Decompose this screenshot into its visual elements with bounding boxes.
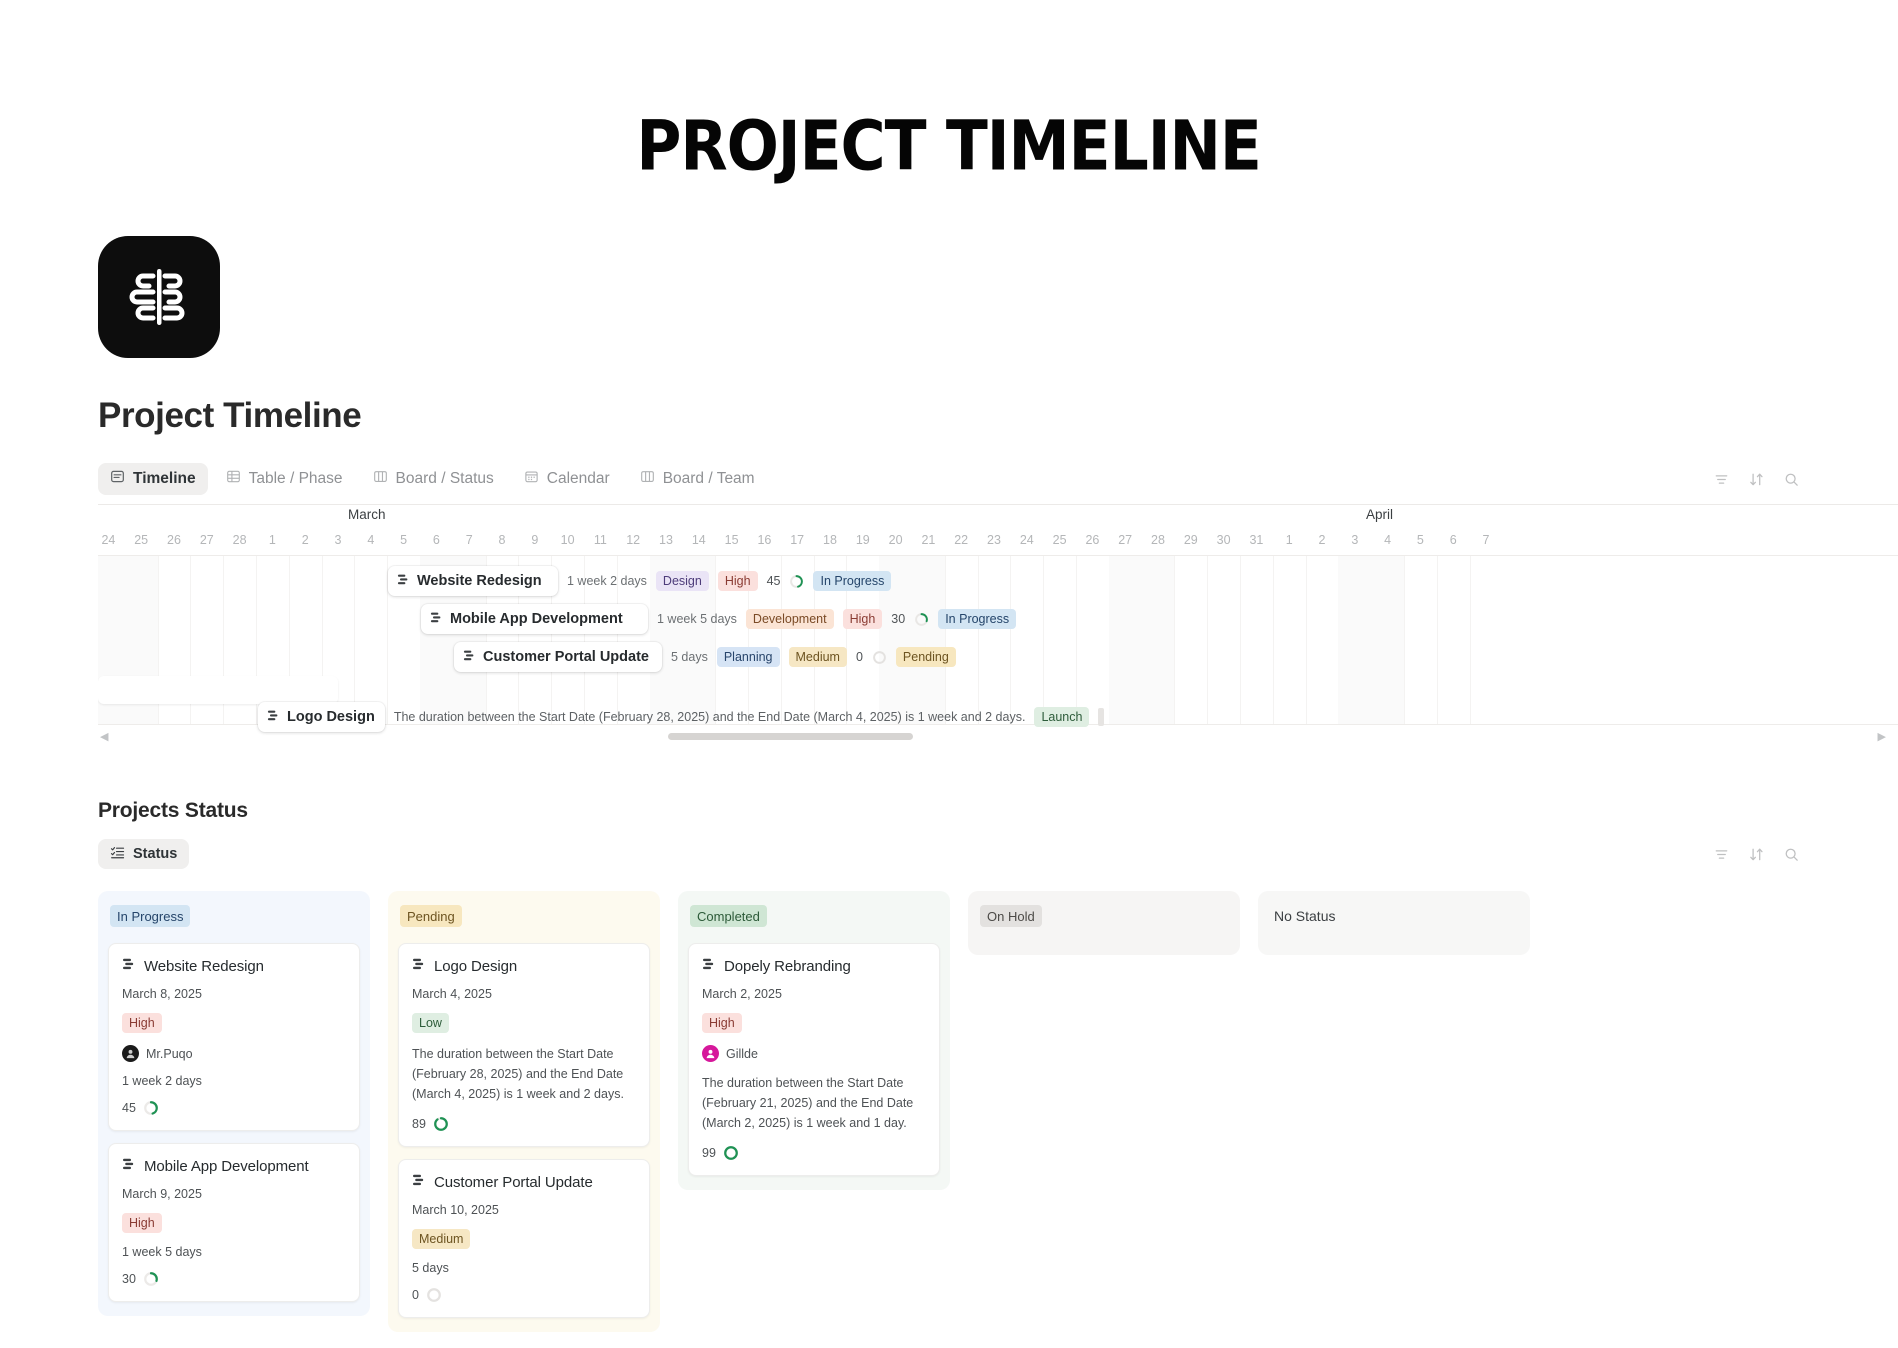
- projects-status-section: Projects Status Status: [98, 799, 1898, 1332]
- card-duration: 5 days: [412, 1261, 636, 1275]
- timeline-day-label: 28: [223, 533, 256, 547]
- column-status-label: No Status: [1270, 908, 1335, 924]
- scroll-left-icon[interactable]: ◀: [100, 730, 108, 743]
- timeline-day-label: 21: [912, 533, 945, 547]
- card-date: March 10, 2025: [412, 1203, 636, 1217]
- status-tab-row: Status: [98, 839, 1800, 869]
- status-tab-label: Status: [133, 846, 177, 862]
- timeline-day-label: 26: [1076, 533, 1109, 547]
- timeline-column-divider: [1240, 556, 1241, 724]
- timeline-horizontal-scrollbar[interactable]: ◀ ▶: [98, 725, 1898, 747]
- timeline-bar-description: The duration between the Start Date (Feb…: [394, 710, 1026, 724]
- tab-status[interactable]: Status: [98, 839, 189, 869]
- board-card[interactable]: Dopely Rebranding March 2, 2025 High Gil…: [688, 943, 940, 1176]
- phase-chip: Launch: [1034, 707, 1089, 727]
- assignee-name: Gillde: [726, 1047, 758, 1061]
- priority-chip: High: [122, 1013, 162, 1033]
- card-priority-row: Low: [412, 1013, 636, 1033]
- timeline-view: MarchApril 24252627281234567891011121314…: [98, 504, 1898, 747]
- project-timeline-logo-icon: [98, 236, 220, 358]
- timeline-empty-row: [98, 676, 338, 704]
- timeline-day-label: 13: [650, 533, 683, 547]
- progress-value: 89: [412, 1117, 426, 1131]
- card-description: The duration between the Start Date (Feb…: [412, 1045, 636, 1104]
- progress-ring-icon: [143, 1100, 159, 1116]
- timeline-column-divider: [1470, 556, 1471, 724]
- timeline-column-divider: [1207, 556, 1208, 724]
- column-status-badge: Completed: [690, 905, 767, 927]
- column-status-badge: Pending: [400, 905, 462, 927]
- timeline-day-label: 19: [846, 533, 879, 547]
- card-progress-row: 30: [122, 1271, 346, 1287]
- card-date: March 4, 2025: [412, 987, 636, 1001]
- timeline-day-label: 9: [518, 533, 551, 547]
- timeline-day-label: 16: [748, 533, 781, 547]
- card-date: March 8, 2025: [122, 987, 346, 1001]
- progress-value: 0: [412, 1288, 419, 1302]
- timeline-view-tools: [1713, 471, 1800, 488]
- card-duration: 1 week 2 days: [122, 1074, 346, 1088]
- progress-ring-icon: [723, 1145, 739, 1161]
- tab-board-team[interactable]: Board / Team: [628, 463, 767, 495]
- timeline-column-divider: [1174, 556, 1175, 724]
- timeline-day-label: 2: [289, 533, 322, 547]
- tab-label: Timeline: [133, 470, 196, 488]
- board-column-on-hold: On Hold: [968, 891, 1240, 955]
- timeline-bar-website-redesign[interactable]: Website Redesign 1 week 2 days Design Hi…: [388, 566, 891, 596]
- timeline-day-label: 25: [125, 533, 158, 547]
- card-progress-row: 99: [702, 1145, 926, 1161]
- column-status-badge: In Progress: [110, 905, 190, 927]
- search-icon[interactable]: [1783, 846, 1800, 863]
- timeline-column-divider: [1273, 556, 1274, 724]
- priority-chip: High: [122, 1213, 162, 1233]
- timeline-grid: Website Redesign 1 week 2 days Design Hi…: [98, 555, 1898, 725]
- task-page-icon: [430, 611, 443, 628]
- timeline-day-ruler: 2425262728123456789101112131415161718192…: [98, 531, 1898, 555]
- timeline-icon: [110, 469, 125, 489]
- task-page-icon: [412, 957, 426, 975]
- tab-table-phase[interactable]: Table / Phase: [214, 463, 355, 495]
- column-header: No Status: [1268, 901, 1520, 931]
- timeline-bar-title: Customer Portal Update: [483, 649, 649, 665]
- timeline-day-label: 25: [1043, 533, 1076, 547]
- card-priority-row: High: [702, 1013, 926, 1033]
- timeline-bar-duration: 1 week 2 days: [567, 574, 647, 588]
- board-column-completed: Completed Dopely Rebranding Ma: [678, 891, 950, 1190]
- timeline-bar-title: Mobile App Development: [450, 611, 623, 627]
- sort-icon[interactable]: [1748, 471, 1765, 488]
- timeline-day-label: 31: [1240, 533, 1273, 547]
- card-title: Mobile App Development: [144, 1158, 309, 1175]
- status-chip: In Progress: [813, 571, 891, 591]
- card-title-row: Dopely Rebranding: [702, 957, 926, 975]
- timeline-bar-meta: 1 week 2 days Design High 45 In Progress: [567, 571, 891, 591]
- timeline-day-label: 5: [387, 533, 420, 547]
- card-title: Website Redesign: [144, 958, 264, 975]
- timeline-bar-title: Website Redesign: [417, 573, 542, 589]
- progress-value: 30: [122, 1272, 136, 1286]
- timeline-day-label: 1: [1273, 533, 1306, 547]
- card-title-row: Website Redesign: [122, 957, 346, 975]
- board-card[interactable]: Mobile App Development March 9, 2025 Hig…: [108, 1143, 360, 1302]
- phase-chip: Development: [746, 609, 834, 629]
- card-progress-row: 45: [122, 1100, 346, 1116]
- board-column-pending: Pending Logo Design March 4, 2: [388, 891, 660, 1332]
- card-duration: 1 week 5 days: [122, 1245, 346, 1259]
- board-column-no-status: No Status: [1258, 891, 1530, 955]
- tab-label: Calendar: [547, 470, 610, 488]
- timeline-day-label: 23: [978, 533, 1011, 547]
- timeline-day-label: 2: [1306, 533, 1339, 547]
- banner-title: PROJECT TIMELINE: [637, 106, 1262, 186]
- timeline-bar-mobile-app-development[interactable]: Mobile App Development 1 week 5 days Dev…: [421, 604, 1016, 634]
- card-title-row: Logo Design: [412, 957, 636, 975]
- card-priority-row: High: [122, 1013, 346, 1033]
- scrollbar-thumb[interactable]: [668, 733, 913, 740]
- tab-timeline[interactable]: Timeline: [98, 463, 208, 495]
- page-body: Project Timeline Timeline: [0, 236, 1898, 1332]
- timeline-bar-pill[interactable]: Customer Portal Update: [454, 642, 662, 672]
- task-page-icon: [702, 957, 716, 975]
- timeline-day-label: 4: [1371, 533, 1404, 547]
- priority-chip: Medium: [412, 1229, 470, 1249]
- timeline-bar-meta: 5 days Planning Medium 0 Pending: [671, 647, 956, 667]
- timeline-day-label: 26: [158, 533, 191, 547]
- scroll-right-icon[interactable]: ▶: [1878, 730, 1886, 743]
- status-chip: Pending: [896, 647, 956, 667]
- timeline-day-label: 22: [945, 533, 978, 547]
- card-title: Dopely Rebranding: [724, 958, 851, 975]
- timeline-bar-end-handle[interactable]: [1098, 708, 1104, 726]
- priority-chip: High: [843, 609, 883, 629]
- section-title: Projects Status: [98, 799, 1800, 823]
- timeline-month-ruler: MarchApril: [98, 505, 1898, 531]
- timeline-column-divider: [354, 556, 355, 724]
- sort-icon[interactable]: [1748, 846, 1765, 863]
- card-date: March 9, 2025: [122, 1187, 346, 1201]
- column-header: In Progress: [108, 901, 360, 931]
- timeline-day-label: 7: [1470, 533, 1503, 547]
- board-icon: [373, 469, 388, 489]
- phase-chip: Planning: [717, 647, 780, 667]
- card-assignee-row: Gillde: [702, 1045, 926, 1062]
- timeline-day-label: 24: [1010, 533, 1043, 547]
- card-description: The duration between the Start Date (Feb…: [702, 1074, 926, 1133]
- timeline-day-label: 3: [1338, 533, 1371, 547]
- column-header: Completed: [688, 901, 940, 931]
- board-card[interactable]: Customer Portal Update March 10, 2025 Me…: [398, 1159, 650, 1318]
- timeline-column-divider: [1076, 556, 1077, 724]
- progress-ring-icon: [426, 1287, 442, 1303]
- filter-icon[interactable]: [1713, 846, 1730, 863]
- board-column-in-progress: In Progress Website Redesign M: [98, 891, 370, 1316]
- column-status-badge: On Hold: [980, 905, 1042, 927]
- task-page-icon: [122, 957, 136, 975]
- progress-ring-icon: [143, 1271, 159, 1287]
- timeline-day-label: 24: [98, 533, 125, 547]
- card-title: Logo Design: [434, 958, 517, 975]
- card-title: Customer Portal Update: [434, 1174, 593, 1191]
- timeline-month-label: April: [1366, 507, 1393, 522]
- timeline-bar-title: Logo Design: [287, 709, 375, 725]
- timeline-day-label: 6: [1437, 533, 1470, 547]
- timeline-day-label: 17: [781, 533, 814, 547]
- timeline-day-label: 6: [420, 533, 453, 547]
- timeline-day-label: 8: [486, 533, 519, 547]
- timeline-day-label: 28: [1142, 533, 1175, 547]
- tab-board-status[interactable]: Board / Status: [361, 463, 506, 495]
- progress-value: 45: [767, 574, 781, 588]
- timeline-column-divider: [945, 556, 946, 724]
- timeline-day-label: 4: [354, 533, 387, 547]
- timeline-bar-duration: 5 days: [671, 650, 708, 664]
- filter-icon[interactable]: [1713, 471, 1730, 488]
- timeline-bar-meta: 1 week 5 days Development High 30 In Pro…: [657, 609, 1016, 629]
- timeline-column-divider: [1043, 556, 1044, 724]
- task-page-icon: [122, 1157, 136, 1175]
- timeline-bar-duration: 1 week 5 days: [657, 612, 737, 626]
- timeline-day-label: 29: [1174, 533, 1207, 547]
- card-title-row: Mobile App Development: [122, 1157, 346, 1175]
- column-header: On Hold: [978, 901, 1230, 931]
- timeline-column-divider: [1306, 556, 1307, 724]
- tab-label: Board / Team: [663, 470, 755, 488]
- timeline-day-label: 5: [1404, 533, 1437, 547]
- tab-label: Table / Phase: [249, 470, 343, 488]
- tab-calendar[interactable]: Calendar: [512, 463, 622, 495]
- timeline-day-label: 7: [453, 533, 486, 547]
- banner: PROJECT TIMELINE: [0, 0, 1898, 180]
- timeline-day-label: 18: [814, 533, 847, 547]
- card-priority-row: High: [122, 1213, 346, 1233]
- priority-chip: High: [702, 1013, 742, 1033]
- task-page-icon: [463, 649, 476, 666]
- progress-value: 30: [891, 612, 905, 626]
- timeline-column-divider: [1437, 556, 1438, 724]
- status-board: In Progress Website Redesign M: [98, 891, 1800, 1332]
- priority-chip: Medium: [789, 647, 847, 667]
- timeline-day-label: 3: [322, 533, 355, 547]
- timeline-day-label: 11: [584, 533, 617, 547]
- group-icon: [110, 845, 125, 864]
- timeline-day-label: 15: [715, 533, 748, 547]
- progress-ring-icon: [914, 612, 929, 627]
- priority-chip: Low: [412, 1013, 449, 1033]
- timeline-bar-pill[interactable]: Mobile App Development: [421, 604, 648, 634]
- card-date: March 2, 2025: [702, 987, 926, 1001]
- timeline-day-label: 14: [682, 533, 715, 547]
- progress-value: 45: [122, 1101, 136, 1115]
- status-chip: In Progress: [938, 609, 1016, 629]
- board-icon: [640, 469, 655, 489]
- timeline-month-label: March: [348, 507, 386, 522]
- card-progress-row: 89: [412, 1116, 636, 1132]
- board-card[interactable]: Website Redesign March 8, 2025 High Mr.P…: [108, 943, 360, 1131]
- avatar: [122, 1045, 139, 1062]
- timeline-bar-meta: The duration between the Start Date (Feb…: [394, 707, 1105, 727]
- column-header: Pending: [398, 901, 650, 931]
- timeline-day-label: 10: [551, 533, 584, 547]
- timeline-day-label: 1: [256, 533, 289, 547]
- task-page-icon: [412, 1173, 426, 1191]
- status-view-tools: [1713, 846, 1800, 863]
- timeline-column-divider: [1404, 556, 1405, 724]
- progress-value: 99: [702, 1146, 716, 1160]
- card-progress-row: 0: [412, 1287, 636, 1303]
- task-page-icon: [267, 709, 280, 726]
- timeline-day-label: 20: [879, 533, 912, 547]
- progress-value: 0: [856, 650, 863, 664]
- page-title: Project Timeline: [98, 396, 1898, 436]
- card-priority-row: Medium: [412, 1229, 636, 1249]
- view-tabs: Timeline Table / Phase Bo: [98, 462, 1898, 496]
- timeline-day-label: 27: [1109, 533, 1142, 547]
- timeline-column-divider: [1010, 556, 1011, 724]
- timeline-weekend-band: [1338, 556, 1404, 724]
- priority-chip: High: [718, 571, 758, 591]
- progress-ring-icon: [872, 650, 887, 665]
- calendar-icon: [524, 469, 539, 489]
- avatar: [702, 1045, 719, 1062]
- timeline-bar-customer-portal-update[interactable]: Customer Portal Update 5 days Planning M…: [454, 642, 956, 672]
- timeline-day-label: 30: [1207, 533, 1240, 547]
- card-assignee-row: Mr.Puqo: [122, 1045, 346, 1062]
- timeline-bar-pill[interactable]: Website Redesign: [388, 566, 558, 596]
- timeline-weekend-band: [1109, 556, 1175, 724]
- tab-label: Board / Status: [396, 470, 494, 488]
- timeline-day-label: 27: [190, 533, 223, 547]
- board-card[interactable]: Logo Design March 4, 2025 Low The durati…: [398, 943, 650, 1147]
- timeline-column-divider: [978, 556, 979, 724]
- progress-ring-icon: [789, 574, 804, 589]
- table-icon: [226, 469, 241, 489]
- card-title-row: Customer Portal Update: [412, 1173, 636, 1191]
- timeline-day-label: 12: [617, 533, 650, 547]
- search-icon[interactable]: [1783, 471, 1800, 488]
- task-page-icon: [397, 573, 410, 590]
- phase-chip: Design: [656, 571, 709, 591]
- assignee-name: Mr.Puqo: [146, 1047, 193, 1061]
- progress-ring-icon: [433, 1116, 449, 1132]
